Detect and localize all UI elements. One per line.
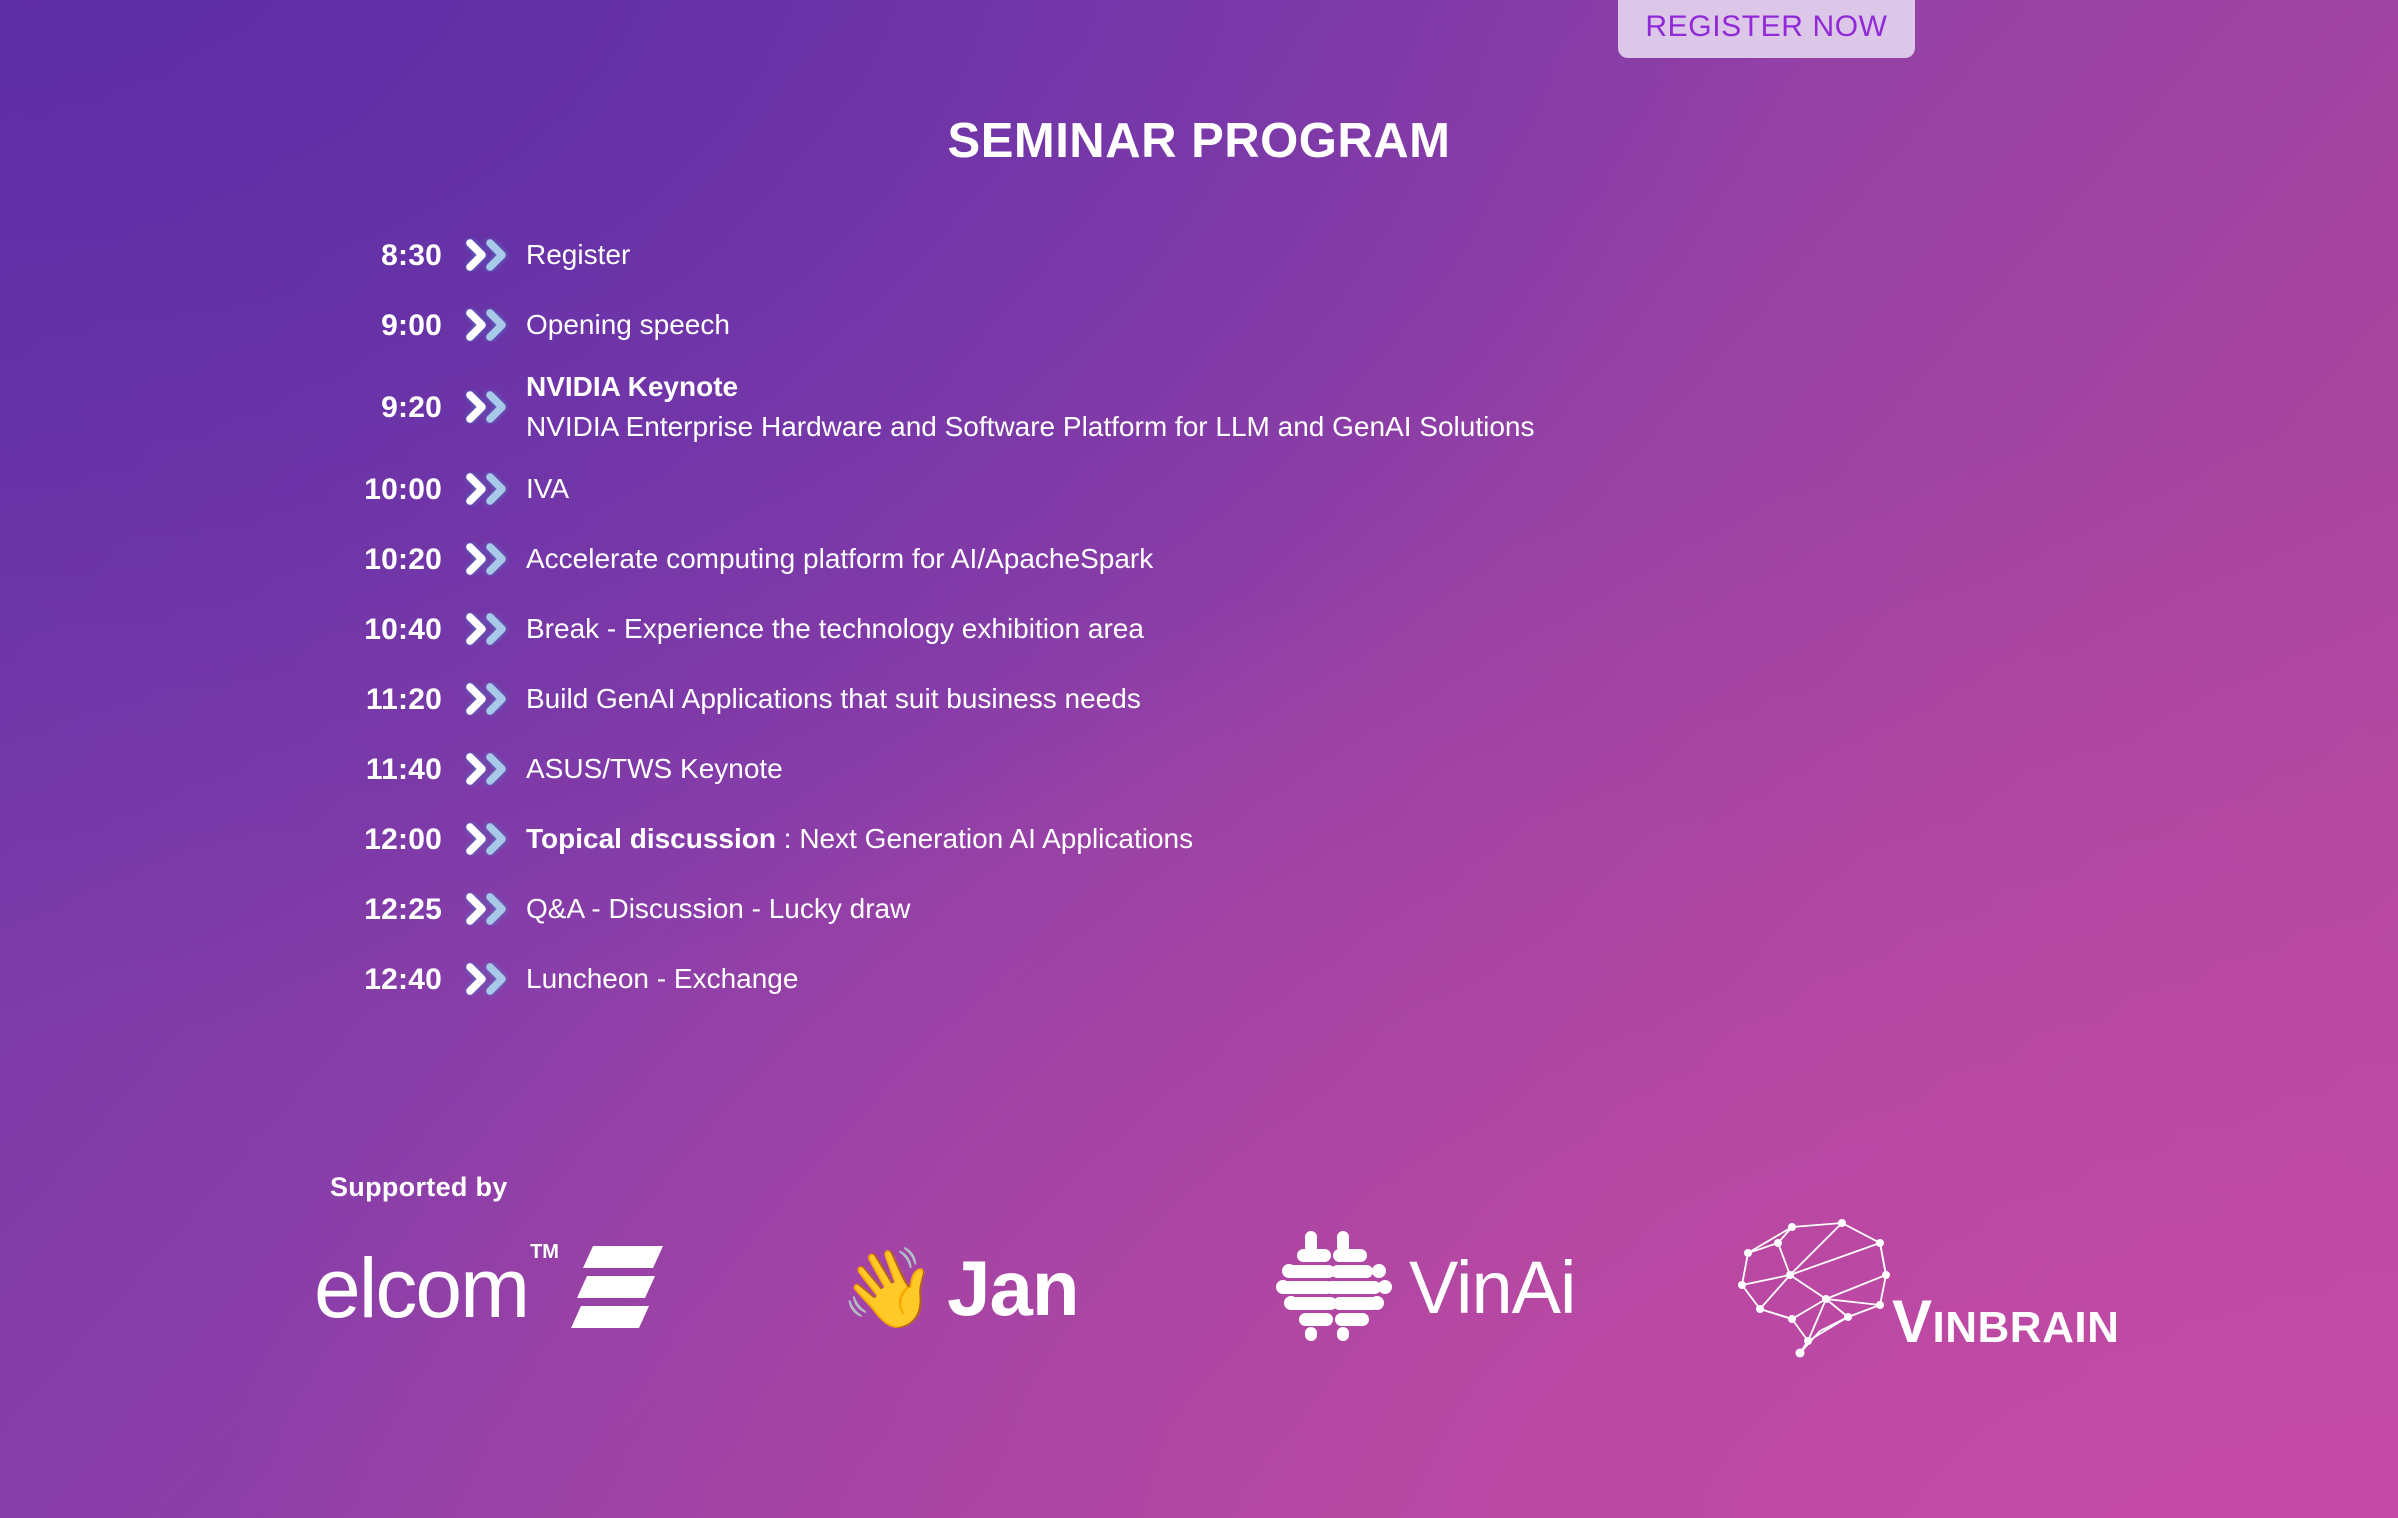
seminar-program-slide: REGISTER NOW SEMINAR PROGRAM 8:30 Regist… (0, 0, 2398, 1518)
supported-by-label: Supported by (330, 1172, 508, 1203)
double-chevron-icon (442, 308, 522, 342)
double-chevron-icon (442, 612, 522, 646)
schedule-time: 9:20 (330, 391, 442, 424)
logo-vinai: VinAi (1275, 1215, 1575, 1360)
schedule-description: IVA (522, 469, 569, 509)
double-chevron-icon (442, 682, 522, 716)
waving-hand-icon: 👋 (840, 1249, 937, 1327)
double-chevron-icon (465, 542, 511, 576)
double-chevron-icon (465, 962, 511, 996)
page-title: SEMINAR PROGRAM (0, 113, 2398, 169)
schedule-subtitle: NVIDIA Enterprise Hardware and Software … (526, 407, 1534, 447)
schedule-time: 10:00 (330, 473, 442, 506)
register-now-button[interactable]: REGISTER NOW (1618, 0, 1915, 58)
vinbrain-initial: V (1892, 1288, 1933, 1355)
schedule-row: 11:20 Build GenAI Applications that suit… (330, 664, 2030, 734)
schedule-row: 12:40 Luncheon - Exchange (330, 944, 2030, 1014)
schedule-description: Topical discussion : Next Generation AI … (522, 819, 1193, 859)
schedule-time: 12:00 (330, 823, 442, 856)
double-chevron-icon (465, 892, 511, 926)
schedule-row: 10:00 IVA (330, 454, 2030, 524)
schedule-row: 9:00 Opening speech (330, 290, 2030, 360)
schedule-title: NVIDIA Keynote (526, 371, 738, 402)
double-chevron-icon (465, 390, 511, 424)
schedule-list: 8:30 Register9:00 Opening speech (330, 220, 2030, 1014)
double-chevron-icon (442, 822, 522, 856)
schedule-row: 9:20 NVIDIA KeynoteNVIDIA Enterprise Har… (330, 360, 2030, 454)
double-chevron-icon (442, 472, 522, 506)
schedule-text: : Next Generation AI Applications (776, 823, 1193, 854)
schedule-time: 11:40 (330, 753, 442, 786)
schedule-row: 10:20 Accelerate computing platform for … (330, 524, 2030, 594)
elcom-e-mark-icon (567, 1240, 667, 1335)
logo-jan: 👋 Jan (840, 1215, 1079, 1360)
schedule-description: Q&A - Discussion - Lucky draw (522, 889, 910, 929)
schedule-time: 10:40 (330, 613, 442, 646)
double-chevron-icon (442, 962, 522, 996)
schedule-row: 12:00 Topical discussion : Next Generati… (330, 804, 2030, 874)
double-chevron-icon (442, 542, 522, 576)
vinai-circuit-icon (1275, 1225, 1395, 1350)
schedule-description: Opening speech (522, 305, 730, 345)
vinbrain-rest: INBRAIN (1933, 1303, 2120, 1352)
trademark-icon: TM (530, 1241, 559, 1264)
schedule-row: 8:30 Register (330, 220, 2030, 290)
logo-vinbrain: VINBRAIN (1730, 1215, 2119, 1360)
double-chevron-icon (442, 238, 522, 272)
double-chevron-icon (442, 752, 522, 786)
logo-elcom: elcom TM (314, 1215, 667, 1360)
schedule-time: 8:30 (330, 239, 442, 272)
schedule-description: Break - Experience the technology exhibi… (522, 609, 1144, 649)
double-chevron-icon (465, 822, 511, 856)
schedule-description: Register (522, 235, 630, 275)
schedule-time: 12:25 (330, 893, 442, 926)
double-chevron-icon (465, 682, 511, 716)
sponsor-logos: elcom TM 👋 Jan (300, 1215, 2150, 1360)
schedule-description: Luncheon - Exchange (522, 959, 798, 999)
double-chevron-icon (465, 612, 511, 646)
elcom-wordmark: elcom (314, 1246, 528, 1330)
double-chevron-icon (465, 308, 511, 342)
jan-wordmark: Jan (947, 1249, 1078, 1327)
double-chevron-icon (465, 472, 511, 506)
schedule-row: 11:40 ASUS/TWS Keynote (330, 734, 2030, 804)
schedule-row: 10:40 Break - Experience the technology … (330, 594, 2030, 664)
schedule-description: NVIDIA KeynoteNVIDIA Enterprise Hardware… (522, 367, 1534, 447)
schedule-description: ASUS/TWS Keynote (522, 749, 783, 789)
double-chevron-icon (442, 390, 522, 424)
double-chevron-icon (465, 752, 511, 786)
schedule-time: 12:40 (330, 963, 442, 996)
schedule-bold-prefix: Topical discussion (526, 823, 776, 854)
schedule-description: Accelerate computing platform for AI/Apa… (522, 539, 1153, 579)
schedule-time: 9:00 (330, 309, 442, 342)
schedule-row: 12:25 Q&A - Discussion - Lucky draw (330, 874, 2030, 944)
vinai-wordmark: VinAi (1409, 1251, 1575, 1325)
double-chevron-icon (465, 238, 511, 272)
double-chevron-icon (442, 892, 522, 926)
schedule-description: Build GenAI Applications that suit busin… (522, 679, 1141, 719)
schedule-time: 10:20 (330, 543, 442, 576)
vinbrain-wordmark: VINBRAIN (1892, 1292, 2119, 1352)
schedule-time: 11:20 (330, 683, 442, 716)
